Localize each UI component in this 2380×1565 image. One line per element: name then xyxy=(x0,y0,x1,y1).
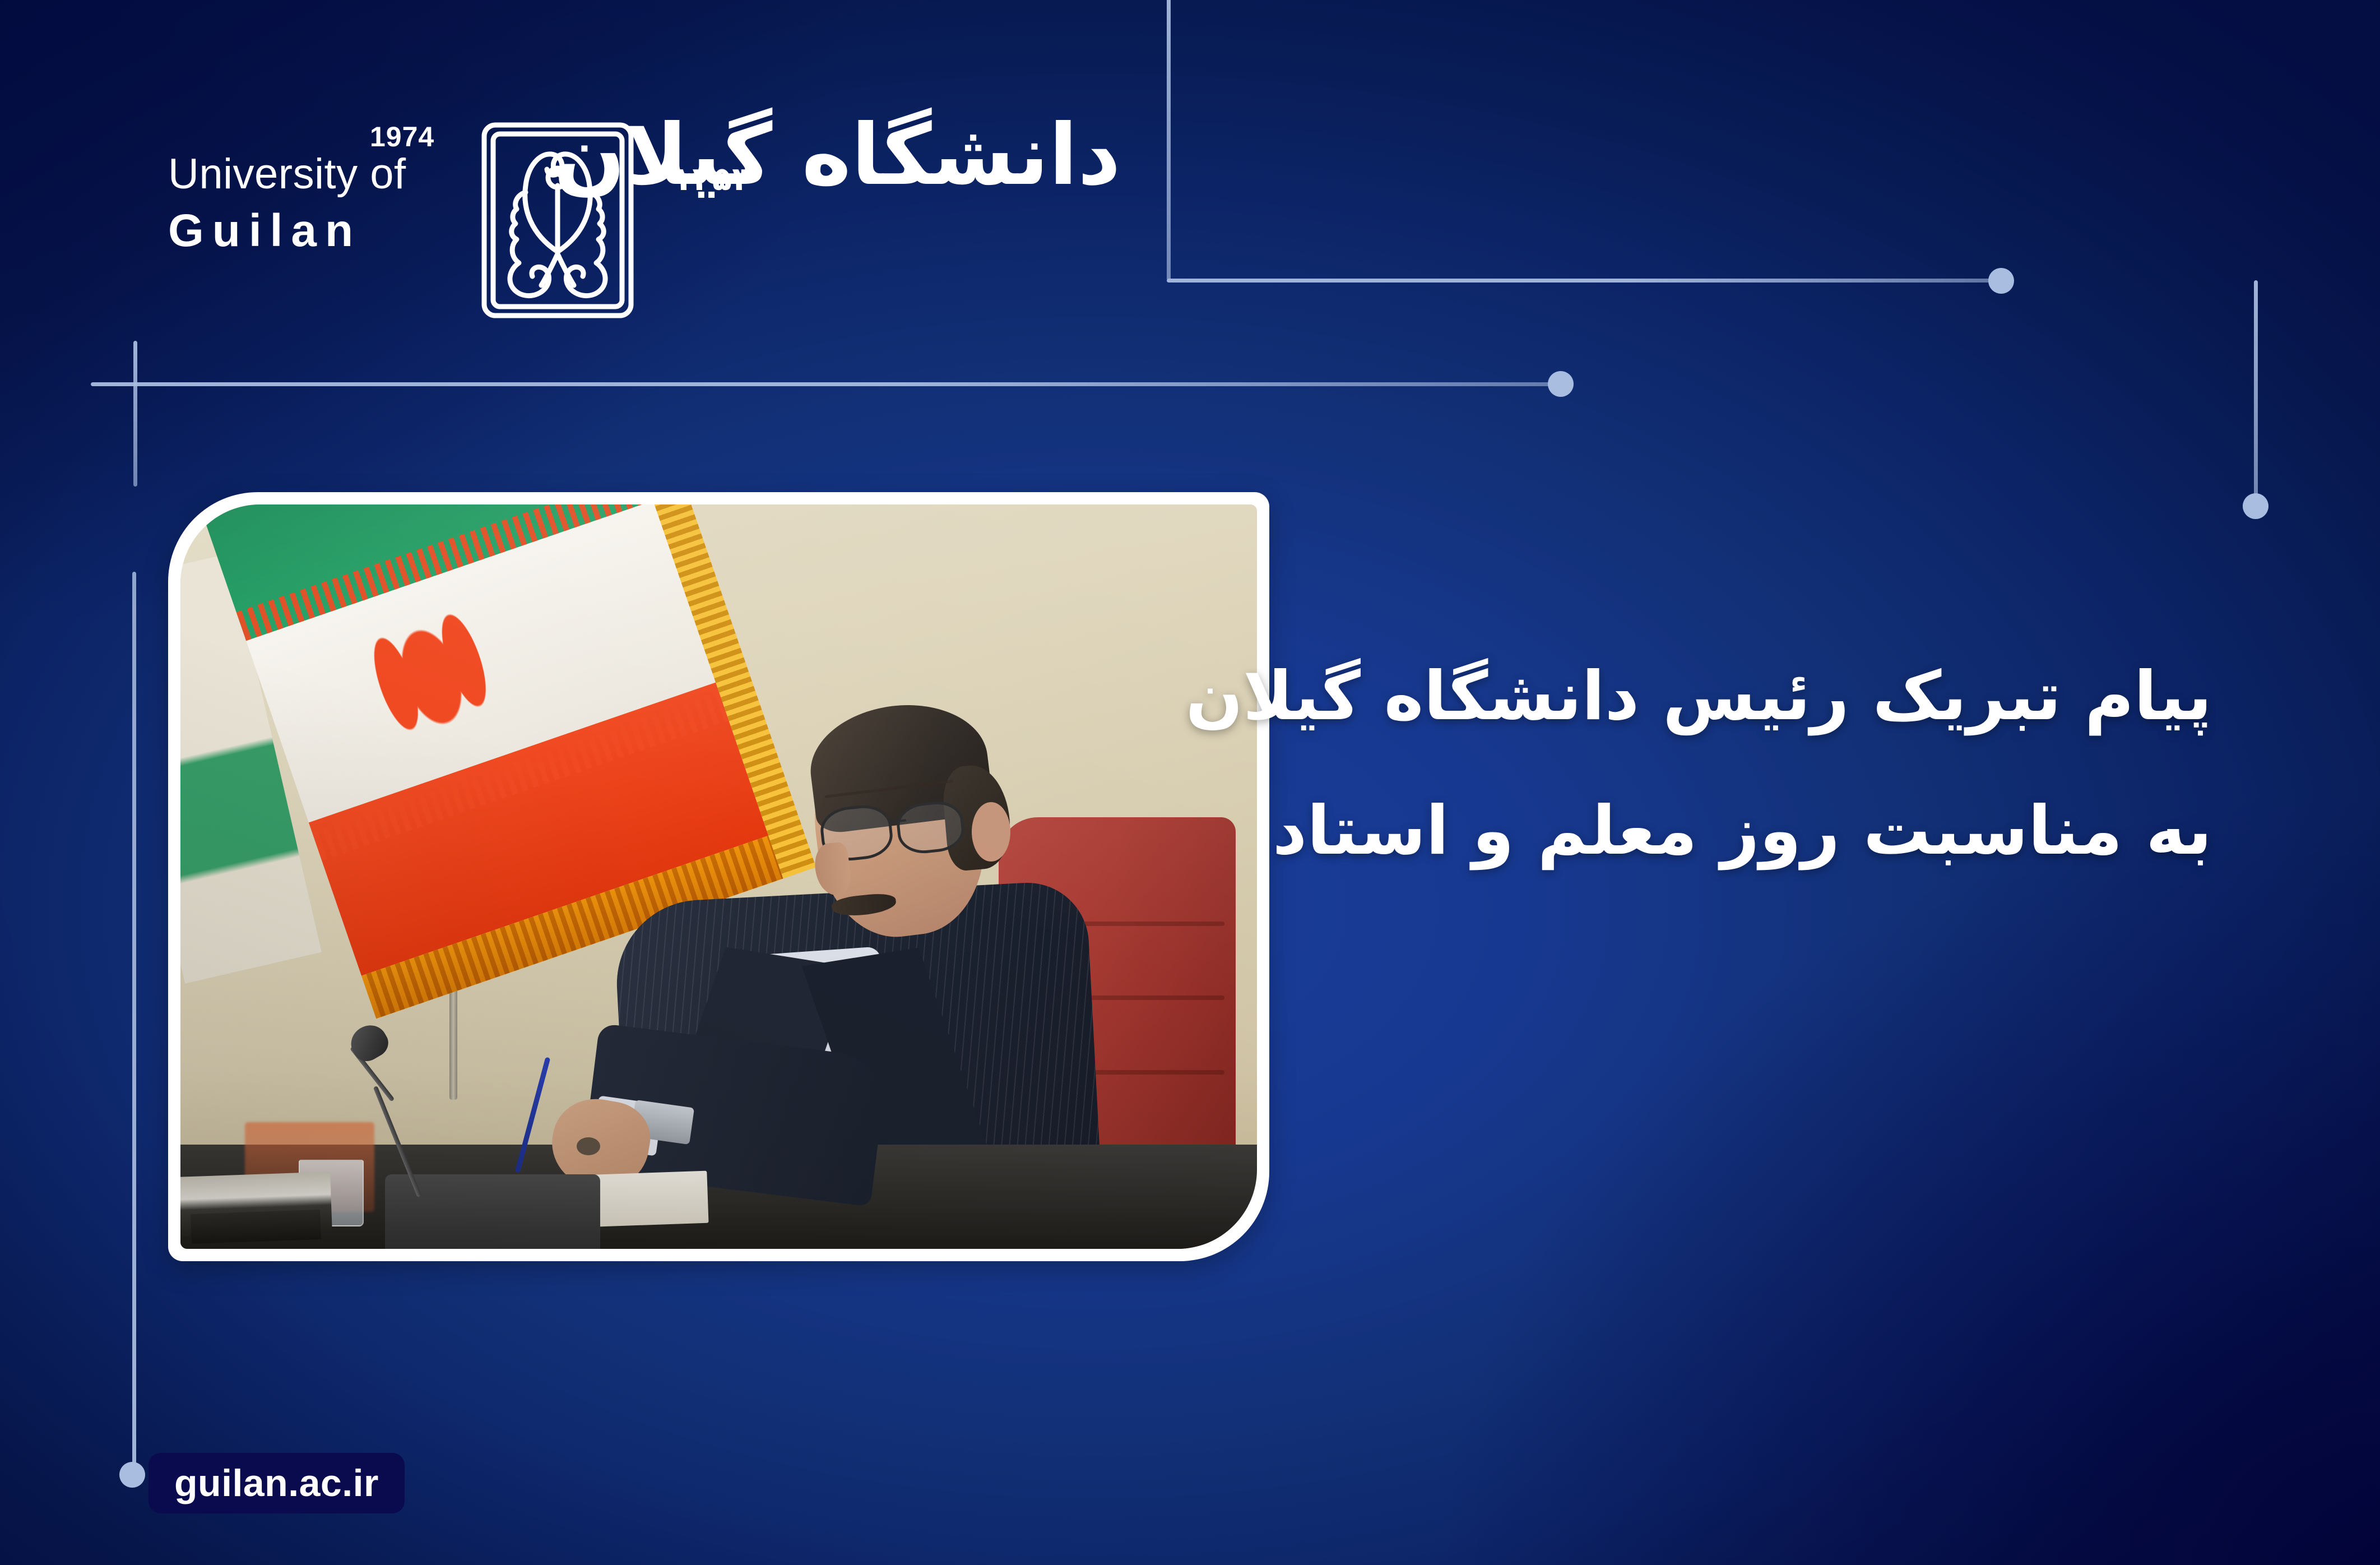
website-url-text: guilan.ac.ir xyxy=(174,1464,379,1502)
university-logo-lockup: 1974 University of Guilan ۱۳۵۳ xyxy=(168,126,1121,345)
photo-ring xyxy=(577,1137,600,1155)
logo-persian-name: دانشگاه گیلان xyxy=(740,92,1121,219)
photo-book-shadow xyxy=(191,1210,321,1244)
decor-line-top-right-horizontal xyxy=(1167,279,2003,283)
decor-line-left-rail xyxy=(132,572,136,1474)
logo-english-line2: Guilan xyxy=(168,208,471,254)
decor-dot-right xyxy=(2243,493,2268,519)
decor-dot-top-right xyxy=(1988,268,2014,294)
president-photo xyxy=(180,504,1257,1249)
website-url-badge[interactable]: guilan.ac.ir xyxy=(149,1453,405,1513)
headline: پیام تبریک رئیس دانشگاه گیلان به مناسبت … xyxy=(1259,639,2212,890)
photo-ear xyxy=(972,802,1010,862)
decor-line-upper-left-horizontal xyxy=(91,382,1562,386)
poster-canvas: 1974 University of Guilan ۱۳۵۳ xyxy=(0,0,2380,1565)
decor-line-upper-left-vertical xyxy=(133,341,137,487)
decor-line-right-stub xyxy=(2254,280,2258,506)
decor-dot-left-rail xyxy=(119,1462,145,1488)
headline-line-2: به مناسبت روز معلم و استاد xyxy=(1259,774,2212,889)
logo-english-line1: University of xyxy=(168,153,471,196)
decor-dot-upper-left xyxy=(1548,371,1574,397)
logo-year-gregorian: 1974 xyxy=(370,121,434,153)
photo-card xyxy=(168,492,1269,1261)
decor-line-top-right-vertical xyxy=(1167,0,1171,280)
headline-line-1: پیام تبریک رئیس دانشگاه گیلان xyxy=(1259,639,2212,754)
logo-english-name: University of Guilan xyxy=(168,153,471,254)
